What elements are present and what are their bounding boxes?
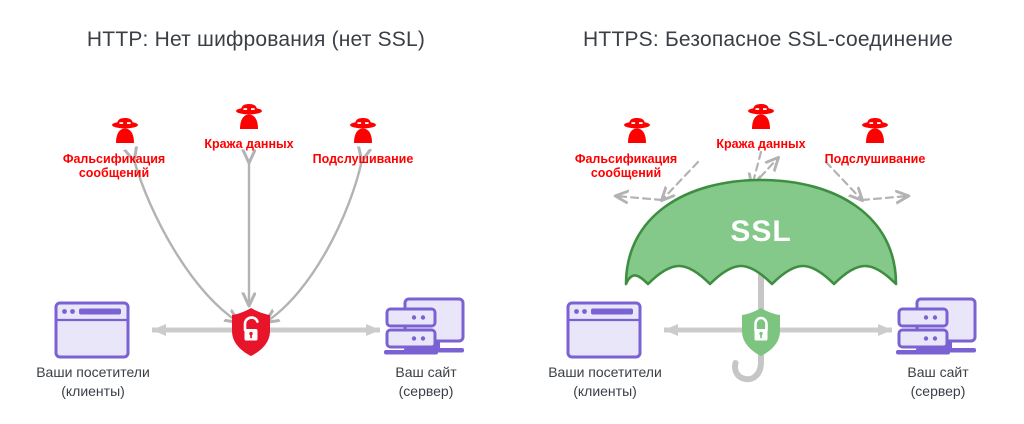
browser-window-icon [568, 303, 640, 357]
http-diagram-svg [0, 0, 512, 424]
spy-icon [112, 118, 138, 143]
node-label-client: Ваши посетители (клиенты) [524, 363, 686, 401]
server-monitor-icon [384, 299, 464, 355]
arrow-forgery [134, 160, 238, 322]
node-label-server: Ваш сайт (сервер) [876, 363, 1000, 401]
https-diagram-svg [512, 0, 1024, 424]
node-label-line1: Ваш сайт [364, 363, 488, 382]
threat-label-line1: Фальсификация [44, 152, 184, 166]
threat-label-line1: Кража данных [691, 137, 831, 151]
threat-label-eavesdropping: Подслушивание [805, 152, 945, 166]
node-label-line2: (клиенты) [524, 382, 686, 401]
spy-icon [236, 104, 262, 129]
umbrella-ssl-label: SSL [701, 215, 821, 249]
shield-locked-icon [742, 308, 780, 356]
node-label-line2: (сервер) [364, 382, 488, 401]
threat-label-message-forgery: Фальсификация сообщений [44, 152, 184, 180]
node-label-line2: (клиенты) [12, 382, 174, 401]
node-label-server: Ваш сайт (сервер) [364, 363, 488, 401]
node-label-line1: Ваши посетители [524, 363, 686, 382]
threat-label-data-theft: Кража данных [179, 137, 319, 151]
panel-https: HTTPS: Безопасное SSL-соединение [512, 0, 1024, 424]
threat-label-message-forgery: Фальсификация сообщений [556, 152, 696, 180]
node-label-line1: Ваши посетители [12, 363, 174, 382]
shield-unlocked-icon [232, 308, 270, 356]
threat-label-line1: Подслушивание [805, 152, 945, 166]
arrow-eavesdropping [266, 160, 362, 322]
threat-label-data-theft: Кража данных [691, 137, 831, 151]
node-label-line2: (сервер) [876, 382, 1000, 401]
browser-window-icon [56, 303, 128, 357]
node-label-line1: Ваш сайт [876, 363, 1000, 382]
spy-icon [748, 104, 774, 129]
panel-http: HTTP: Нет шифрования (нет SSL) [0, 0, 512, 424]
node-label-client: Ваши посетители (клиенты) [12, 363, 174, 401]
spy-icon [350, 118, 376, 143]
threat-label-line2: сообщений [44, 166, 184, 180]
threat-label-line2: сообщений [556, 166, 696, 180]
spy-icon [862, 118, 888, 143]
threat-label-line1: Подслушивание [293, 152, 433, 166]
threat-label-line1: Фальсификация [556, 152, 696, 166]
threat-label-eavesdropping: Подслушивание [293, 152, 433, 166]
threat-label-line1: Кража данных [179, 137, 319, 151]
server-monitor-icon [896, 299, 976, 355]
spy-icon [624, 118, 650, 143]
